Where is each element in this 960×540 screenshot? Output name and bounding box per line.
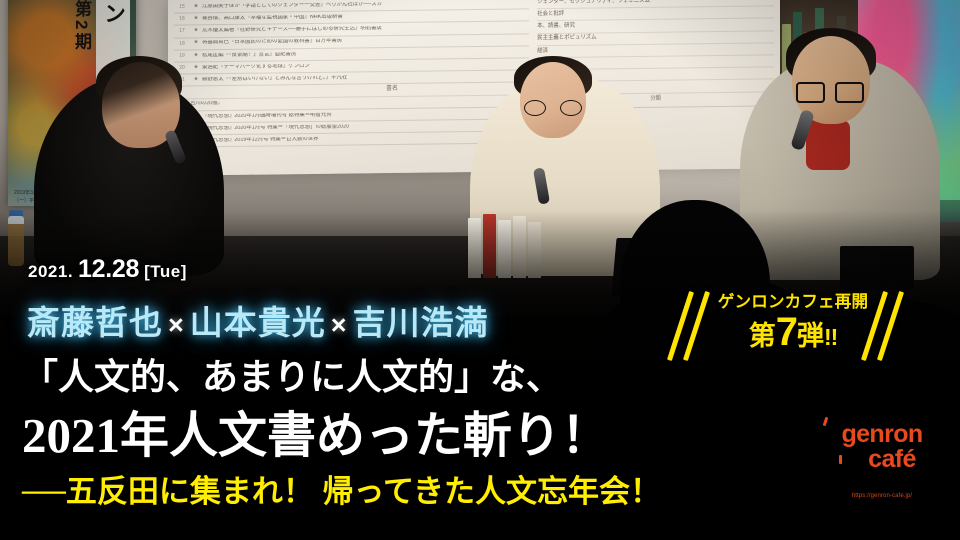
reopening-badge: ゲンロンカフェ再開 第7弾!!	[676, 286, 906, 364]
accent-mark-icon	[823, 417, 829, 426]
badge-dai: 第	[749, 321, 776, 351]
logo-line-cafe: café	[828, 447, 956, 472]
logo-text-cafe: café	[868, 445, 916, 473]
logo-line-genron: genron	[818, 422, 946, 447]
badge-line-1: ゲンロンカフェ再開	[712, 288, 874, 312]
speaker-name-3: 吉川浩満	[353, 304, 489, 341]
badge-dan: 弾	[797, 321, 824, 351]
separator-icon: ×	[326, 310, 353, 340]
event-date: 2021. 12.28 [Tue]	[28, 255, 187, 284]
badge-number: 7	[776, 310, 797, 354]
badge-line-2: 第7弾!!	[712, 312, 874, 352]
separator-icon: ×	[163, 310, 190, 340]
event-banner-screenshot: 15 ★ 江原由美子ほか『学話としてのジェンダー一交差』ぺりかん社ほか──スカ …	[0, 0, 960, 540]
genron-cafe-logo[interactable]: genron café	[818, 422, 946, 471]
event-title-line-1: 「人文的、あまりに人文的」な、	[22, 348, 562, 400]
date-month-day: 12.28	[78, 255, 139, 284]
date-day-of-week: [Tue]	[144, 262, 187, 282]
speaker-name-2: 山本貴光	[190, 304, 326, 341]
speaker-lineup: 斎藤哲也×山本貴光×吉川浩満	[27, 296, 489, 344]
event-title-line-2: 2021年人文書めった斬り！	[22, 396, 610, 467]
accent-mark-icon	[839, 455, 842, 464]
date-year: 2021.	[28, 262, 73, 282]
title-overlay: 2021. 12.28 [Tue] 斎藤哲也×山本貴光×吉川浩満 「人文的、あま…	[0, 0, 960, 540]
speaker-name-1: 斎藤哲也	[27, 304, 163, 341]
badge-exclamation: !!	[824, 324, 837, 350]
event-subtitle: ──五反田に集まれ！ 帰ってきた人文忘年会！	[22, 466, 661, 511]
logo-url[interactable]: https://genron-cafe.jp/	[818, 493, 946, 499]
